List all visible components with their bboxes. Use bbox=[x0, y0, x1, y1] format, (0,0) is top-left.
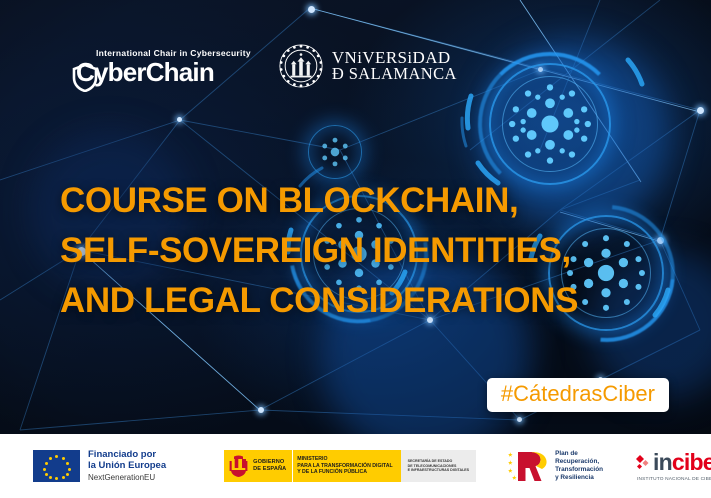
gobierno-text: GOBIERNO DE ESPAÑA bbox=[253, 459, 286, 472]
plan-recuperacion-logo: Plan de Recuperación, Transformación y R… bbox=[506, 450, 603, 483]
incibe-subtitle: INSTITUTO NACIONAL DE CIBERSEGURIDAD bbox=[637, 477, 711, 482]
footer-logo-bar: Financiado por la Unión Europea NextGene… bbox=[0, 434, 711, 498]
ministerio-text: MINISTERIO PARA LA TRANSFORMACIÓN DIGITA… bbox=[297, 456, 392, 476]
incibe-word-part1: in bbox=[653, 451, 672, 474]
title-line-3: AND LEGAL CONSIDERATIONS bbox=[60, 276, 680, 326]
secretaria-text: SECRETARÍA DE ESTADO DE TELECOMUNICACION… bbox=[408, 459, 469, 472]
title-line-1: COURSE ON BLOCKCHAIN, bbox=[60, 176, 680, 226]
university-line2: Ð SALAMANCA bbox=[332, 66, 457, 83]
gobierno-line1: GOBIERNO bbox=[253, 459, 286, 466]
university-salamanca-logo: VNiVERSiDAD Ð SALAMANCA bbox=[279, 44, 457, 88]
incibe-wordmark-row: in cibe _ bbox=[636, 451, 711, 474]
incibe-word-part2: cibe bbox=[672, 451, 711, 474]
header-logos: International Chair in Cybersecurity Cyb… bbox=[74, 44, 457, 88]
incibe-logo: in cibe _ INSTITUTO NACIONAL DE CIBERSEG… bbox=[636, 451, 711, 482]
plan-line2: Recuperación, bbox=[555, 458, 603, 466]
poster-title: COURSE ON BLOCKCHAIN, SELF-SOVEREIGN IDE… bbox=[60, 176, 680, 326]
prtr-logo-icon bbox=[506, 450, 548, 483]
title-line-2: SELF-SOVEREIGN IDENTITIES, bbox=[60, 226, 680, 276]
eu-line1: Financiado por bbox=[88, 449, 166, 460]
ministerio-line3: Y DE LA FUNCIÓN PÚBLICA bbox=[297, 469, 392, 476]
ministerio-block: MINISTERIO PARA LA TRANSFORMACIÓN DIGITA… bbox=[292, 450, 400, 482]
eu-flag-icon bbox=[33, 450, 80, 482]
plan-recuperacion-text: Plan de Recuperación, Transformación y R… bbox=[555, 450, 603, 482]
plan-line3: Transformación bbox=[555, 466, 603, 474]
cyberchain-wordmark: CyberChain bbox=[74, 59, 251, 85]
cyberchain-logo: International Chair in Cybersecurity Cyb… bbox=[74, 48, 251, 85]
cyberchain-tagline: International Chair in Cybersecurity bbox=[96, 48, 251, 58]
gobierno-line2: DE ESPAÑA bbox=[253, 466, 286, 473]
university-seal-icon bbox=[279, 44, 323, 88]
incibe-diamond-icon bbox=[636, 455, 649, 470]
secretaria-line3: E INFRAESTRUCTURAS DIGITALES bbox=[408, 468, 469, 472]
spain-coat-of-arms-icon bbox=[229, 455, 248, 478]
plan-line1: Plan de bbox=[555, 450, 603, 458]
eu-line3: NextGenerationEU bbox=[88, 473, 166, 482]
poster-banner: International Chair in Cybersecurity Cyb… bbox=[0, 0, 711, 498]
gobierno-espana-logo: GOBIERNO DE ESPAÑA MINISTERIO PARA LA TR… bbox=[224, 450, 476, 482]
plan-line4: y Resiliencia bbox=[555, 474, 603, 482]
hashtag-badge: #CátedrasCiber bbox=[487, 378, 669, 412]
university-wordmark: VNiVERSiDAD Ð SALAMANCA bbox=[332, 49, 457, 83]
eu-funding-text: Financiado por la Unión Europea NextGene… bbox=[88, 449, 166, 483]
gobierno-block: GOBIERNO DE ESPAÑA bbox=[224, 450, 292, 482]
secretaria-block: SECRETARÍA DE ESTADO DE TELECOMUNICACION… bbox=[401, 450, 476, 482]
eu-line2: la Unión Europea bbox=[88, 460, 166, 471]
shield-icon bbox=[72, 64, 98, 92]
eu-funding-logo: Financiado por la Unión Europea NextGene… bbox=[33, 449, 166, 483]
